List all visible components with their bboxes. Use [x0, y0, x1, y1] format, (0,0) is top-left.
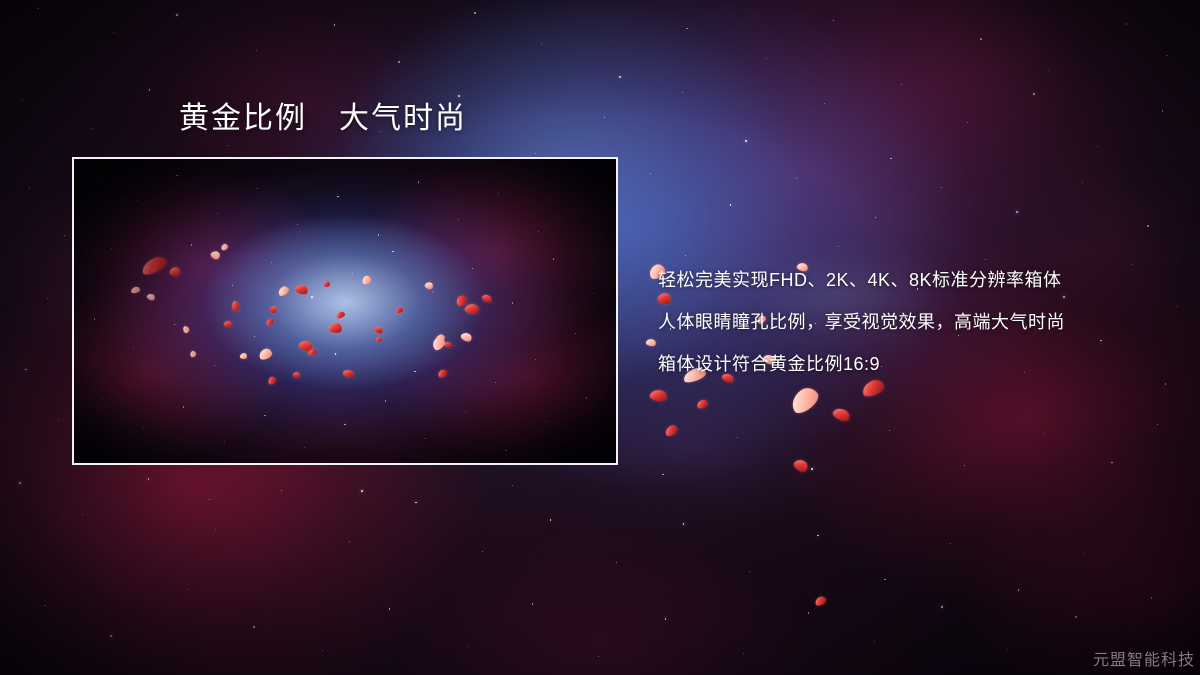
star-dot [512, 485, 513, 486]
petal-shape [649, 388, 668, 402]
star-dot [686, 28, 687, 29]
star-dot [662, 474, 663, 475]
star-dot [833, 20, 835, 22]
star-dot [884, 579, 885, 580]
star-dot [1157, 424, 1159, 426]
star-dot [467, 646, 468, 647]
star-dot [44, 605, 45, 606]
star-dot [541, 43, 542, 44]
star-dot [683, 523, 685, 525]
star-dot [967, 122, 968, 123]
petal-shape [814, 595, 827, 607]
star-dot [749, 571, 750, 572]
star-dot [91, 128, 92, 129]
star-dot [889, 430, 890, 431]
star-dot [1151, 597, 1153, 599]
star-dot [1016, 211, 1018, 213]
star-dot [964, 465, 965, 466]
star-dot [598, 656, 599, 657]
star-dot [322, 650, 323, 651]
star-dot [58, 419, 59, 420]
star-dot [980, 38, 982, 40]
star-dot [665, 618, 667, 620]
star-dot [838, 246, 839, 247]
watermark: 元盟智能科技 [1093, 646, 1195, 670]
star-dot [389, 608, 391, 610]
star-dot [1048, 70, 1049, 71]
star-dot [209, 499, 210, 500]
star-dot [950, 543, 951, 544]
star-dot [1084, 553, 1085, 554]
star-dot [398, 61, 399, 62]
page-title: 黄金比例 大气时尚 [179, 100, 467, 138]
star-dot [682, 92, 683, 93]
star-dot [766, 58, 767, 59]
star-dot [1033, 93, 1035, 95]
star-dot [1097, 146, 1098, 147]
star-dot [281, 490, 282, 491]
petal-shape [663, 423, 679, 437]
star-dot [82, 514, 83, 515]
star-dot [482, 551, 483, 552]
star-dot [37, 8, 38, 9]
petal-shape [792, 456, 810, 473]
star-dot [361, 490, 363, 492]
star-dot [1007, 649, 1008, 650]
star-dot [187, 589, 188, 590]
star-dot [110, 635, 112, 637]
star-dot [737, 437, 738, 438]
star-dot [941, 606, 943, 608]
star-dot [149, 89, 151, 91]
star-dot [334, 24, 336, 26]
star-dot [176, 14, 178, 16]
star-dot [1075, 616, 1076, 617]
star-dot [550, 519, 552, 521]
star-dot [474, 12, 476, 14]
star-dot [1126, 23, 1128, 25]
framed-photo [72, 157, 618, 465]
star-dot [604, 117, 606, 119]
star-dot [875, 217, 876, 218]
star-dot [458, 95, 460, 97]
star-dot [796, 178, 797, 179]
star-dot [824, 103, 825, 104]
star-dot [29, 188, 30, 189]
star-dot [1018, 589, 1020, 591]
star-dot [253, 626, 254, 627]
star-dot [19, 482, 21, 484]
star-dot [1082, 182, 1083, 183]
star-dot [874, 641, 875, 642]
star-dot [743, 653, 744, 654]
star-dot [901, 84, 902, 85]
body-text-block: 轻松完美实现FHD、2K、4K、8K标准分辨率箱体 人体眼睛瞳孔比例，享受视觉效… [658, 259, 1188, 385]
star-dot [685, 255, 686, 256]
star-dot [811, 468, 813, 470]
star-dot [1166, 55, 1167, 56]
body-line-3: 箱体设计符合黄金比例16:9 [658, 343, 1188, 385]
star-dot [1043, 433, 1044, 434]
petal-shape [645, 338, 656, 347]
star-dot [349, 541, 350, 542]
petal-shape [786, 384, 821, 417]
star-dot [227, 145, 228, 146]
star-dot [745, 140, 747, 142]
star-dot [47, 298, 48, 299]
star-dot [941, 187, 942, 188]
star-dot [113, 32, 114, 33]
star-dot [22, 99, 23, 100]
star-dot [730, 204, 732, 206]
star-dot [619, 76, 621, 78]
star-dot [25, 369, 27, 371]
petal-shape [696, 398, 709, 409]
star-dot [148, 478, 150, 480]
star-dot [650, 173, 651, 174]
star-dot [616, 562, 617, 563]
body-line-2: 人体眼睛瞳孔比例，享受视觉效果，高端大气时尚 [658, 301, 1188, 343]
star-dot [535, 153, 536, 154]
star-dot [532, 603, 534, 605]
star-dot [215, 529, 216, 530]
star-dot [1162, 110, 1164, 112]
star-dot [415, 502, 417, 504]
star-dot [256, 50, 257, 51]
star-dot [1111, 462, 1113, 464]
petal-shape [831, 406, 851, 424]
star-dot [890, 158, 891, 159]
photo-vignette [74, 159, 616, 463]
presentation-slide: 黄金比例 大气时尚 轻松完美实现FHD、2K、4K、8K标准分辨率箱体 人体眼睛… [0, 0, 1200, 675]
star-dot [817, 535, 819, 537]
star-dot [64, 235, 65, 236]
star-dot [1147, 225, 1149, 227]
star-dot [808, 612, 809, 613]
body-line-1: 轻松完美实现FHD、2K、4K、8K标准分辨率箱体 [658, 259, 1188, 301]
